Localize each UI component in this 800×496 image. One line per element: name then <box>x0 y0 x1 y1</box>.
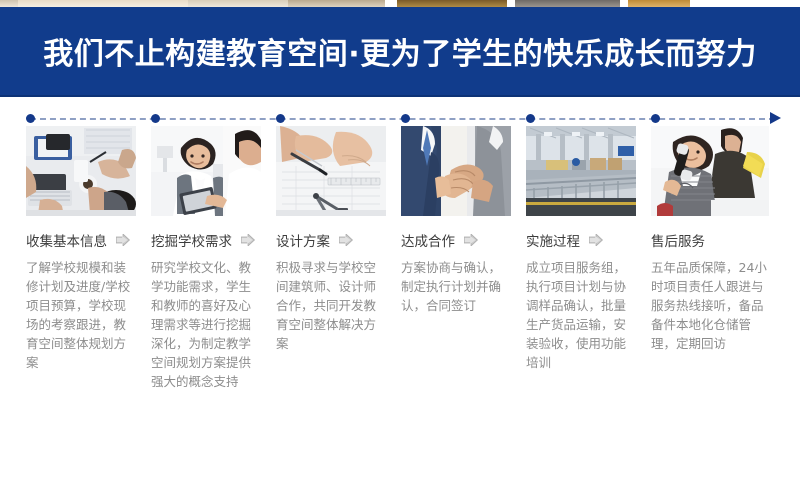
arrow-right-icon <box>339 234 353 246</box>
arrow-right-icon <box>589 234 603 246</box>
card-body: 研究学校文化、教学功能需求，学生和教师的喜好及心理需求等进行挖掘深化，为制定教学… <box>151 258 263 391</box>
process-card-design-plan: 设计方案 积极寻求与学校空间建筑师、设计师合作，共同开发教育空间整体解决方案 <box>276 126 401 496</box>
timeline-dot <box>401 114 410 123</box>
card-body: 成立项目服务组，执行项目计划与协调样品确认，批量生产货品运输，安装验收，使用功能… <box>526 258 638 372</box>
factory-conveyor-line-photo <box>526 126 636 216</box>
card-title: 挖掘学校需求 <box>151 230 232 250</box>
card-body: 方案协商与确认，制定执行计划并确认，合同签订 <box>401 258 513 315</box>
timeline-dot <box>526 114 535 123</box>
arrow-right-icon <box>116 234 130 246</box>
businesswoman-tablet-photo <box>151 126 261 216</box>
headline-banner: 我们不止构建教育空间·更为了学生的快乐成长而努力 <box>0 7 800 95</box>
process-timeline <box>0 112 800 126</box>
card-body: 积极寻求与学校空间建筑师、设计师合作，共同开发教育空间整体解决方案 <box>276 258 388 353</box>
handshake-photo <box>401 126 511 216</box>
process-card-reach-agreement: 达成合作 方案协商与确认，制定执行计划并确认，合同签订 <box>401 126 526 496</box>
card-header: 收集基本信息 <box>26 230 151 250</box>
card-header: 设计方案 <box>276 230 401 250</box>
card-body: 五年品质保障，24小时项目责任人跟进与服务热线接听，备品备件本地化仓储管理，定期… <box>651 258 771 353</box>
top-image-strip <box>0 0 800 7</box>
card-title: 实施过程 <box>526 230 580 250</box>
arrow-right-icon <box>241 234 255 246</box>
timeline-end-arrow-icon <box>770 112 781 124</box>
timeline-dot <box>276 114 285 123</box>
card-header: 售后服务 <box>651 230 776 250</box>
timeline-dot <box>26 114 35 123</box>
process-card-implementation: 实施过程 成立项目服务组，执行项目计划与协调样品确认，批量生产货品运输，安装验收… <box>526 126 651 496</box>
timeline-dot <box>651 114 660 123</box>
timeline-dot <box>151 114 160 123</box>
blueprint-drafting-hands-photo <box>276 126 386 216</box>
banner-bottom-edge <box>0 95 800 97</box>
card-title: 收集基本信息 <box>26 230 107 250</box>
card-title: 设计方案 <box>276 230 330 250</box>
card-title: 售后服务 <box>651 230 705 250</box>
service-process-page: 我们不止构建教育空间·更为了学生的快乐成长而努力 <box>0 0 800 496</box>
arrow-right-icon <box>464 234 478 246</box>
card-header: 达成合作 <box>401 230 526 250</box>
card-header: 实施过程 <box>526 230 651 250</box>
support-agent-phone-photo <box>651 126 769 216</box>
process-card-collect-info: 收集基本信息 了解学校规模和装修计划及进度/学校项目预算，学校现场的考察跟进，教… <box>26 126 151 496</box>
team-meeting-desk-photo <box>26 126 136 216</box>
card-header: 挖掘学校需求 <box>151 230 276 250</box>
banner-title: 我们不止构建教育空间·更为了学生的快乐成长而努力 <box>43 29 756 73</box>
card-title: 达成合作 <box>401 230 455 250</box>
process-card-discover-needs: 挖掘学校需求 研究学校文化、教学功能需求，学生和教师的喜好及心理需求等进行挖掘深… <box>151 126 276 496</box>
card-body: 了解学校规模和装修计划及进度/学校项目预算，学校现场的考察跟进，教育空间整体规划… <box>26 258 138 372</box>
process-card-row: 收集基本信息 了解学校规模和装修计划及进度/学校项目预算，学校现场的考察跟进，教… <box>0 126 800 496</box>
process-card-after-sales: 售后服务 五年品质保障，24小时项目责任人跟进与服务热线接听，备品备件本地化仓储… <box>651 126 776 496</box>
